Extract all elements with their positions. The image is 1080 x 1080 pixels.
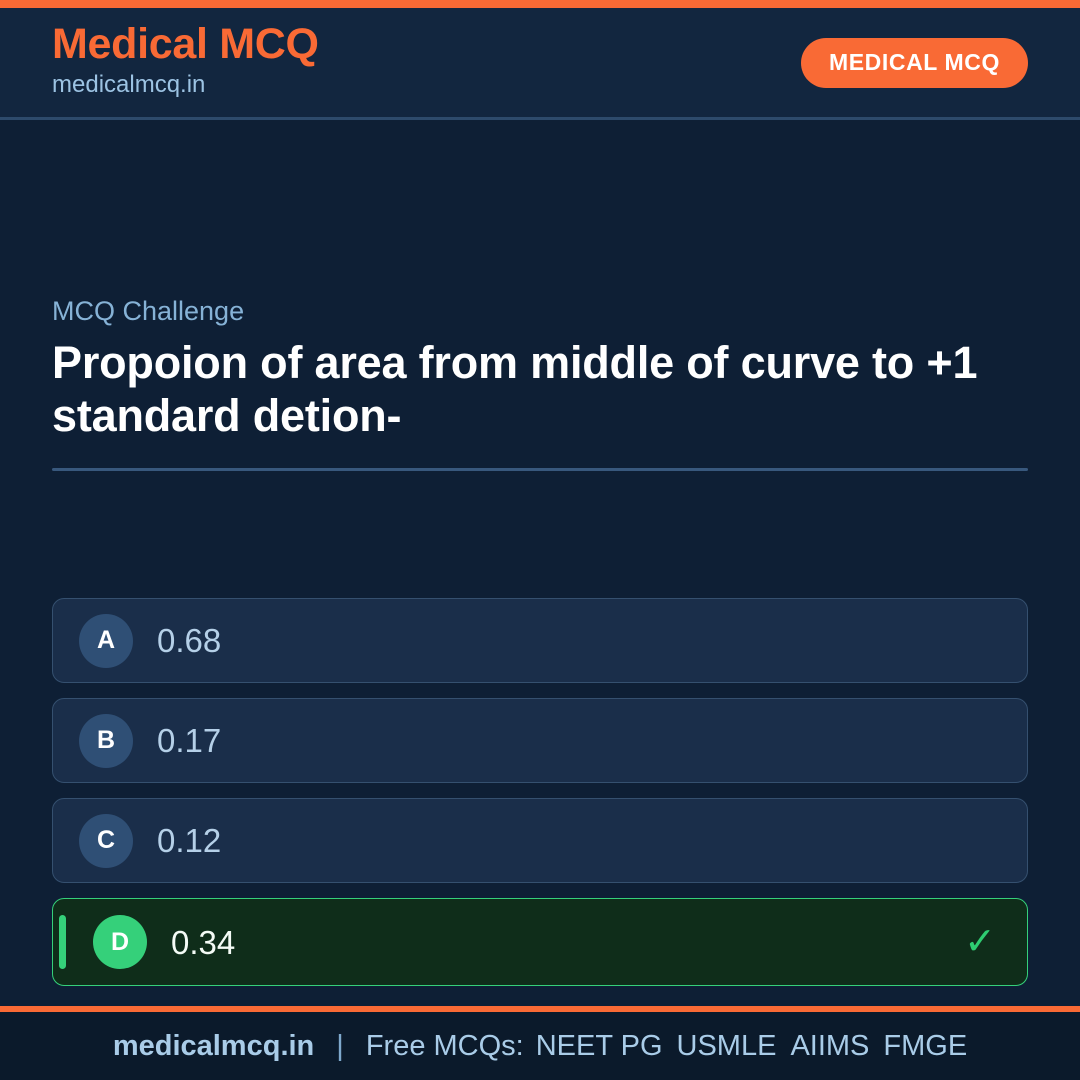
option-text-c: 0.12 — [157, 824, 963, 857]
brand-badge: MEDICAL MCQ — [801, 38, 1028, 88]
option-row-a[interactable]: A 0.68 — [52, 598, 1028, 683]
options-list: A 0.68 B 0.17 C 0.12 D 0.34 ✓ — [52, 598, 1028, 986]
option-text-a: 0.68 — [157, 624, 963, 657]
mcq-card: Medical MCQ medicalmcq.in MEDICAL MCQ MC… — [0, 0, 1080, 1080]
question-kicker: MCQ Challenge — [52, 295, 1028, 327]
footer-exam-fmge: FMGE — [883, 1032, 967, 1061]
option-text-b: 0.17 — [157, 724, 963, 757]
option-letter-c: C — [79, 814, 133, 868]
question-text: Propoion of area from middle of curve to… — [52, 337, 1028, 441]
option-letter-b: B — [79, 714, 133, 768]
brand-block: Medical MCQ medicalmcq.in — [52, 23, 319, 100]
question-divider — [52, 468, 1028, 471]
footer: medicalmcq.in | Free MCQs: NEET PG USMLE… — [0, 1012, 1080, 1080]
footer-separator: | — [336, 1032, 344, 1061]
footer-site: medicalmcq.in — [113, 1032, 314, 1061]
footer-exam-aiims: AIIMS — [790, 1032, 869, 1061]
correct-check-icon-d: ✓ — [963, 923, 997, 961]
footer-label: Free MCQs: — [366, 1032, 524, 1061]
option-letter-d: D — [93, 915, 147, 969]
option-row-d[interactable]: D 0.34 ✓ — [52, 898, 1028, 986]
question-block: MCQ Challenge Propoion of area from midd… — [52, 295, 1028, 471]
option-row-c[interactable]: C 0.12 — [52, 798, 1028, 883]
top-accent-bar — [0, 0, 1080, 8]
option-letter-a: A — [79, 614, 133, 668]
main-content: MCQ Challenge Propoion of area from midd… — [0, 120, 1080, 1006]
brand-title: Medical MCQ — [52, 23, 319, 67]
header: Medical MCQ medicalmcq.in MEDICAL MCQ — [0, 8, 1080, 120]
option-text-d: 0.34 — [171, 926, 963, 959]
option-row-b[interactable]: B 0.17 — [52, 698, 1028, 783]
brand-subtitle: medicalmcq.in — [52, 70, 319, 100]
footer-text: medicalmcq.in | Free MCQs: NEET PG USMLE… — [113, 1032, 967, 1061]
footer-exam-usmle: USMLE — [677, 1032, 777, 1061]
correct-accent-bar — [59, 915, 66, 969]
footer-exam-neetpg: NEET PG — [536, 1032, 663, 1061]
